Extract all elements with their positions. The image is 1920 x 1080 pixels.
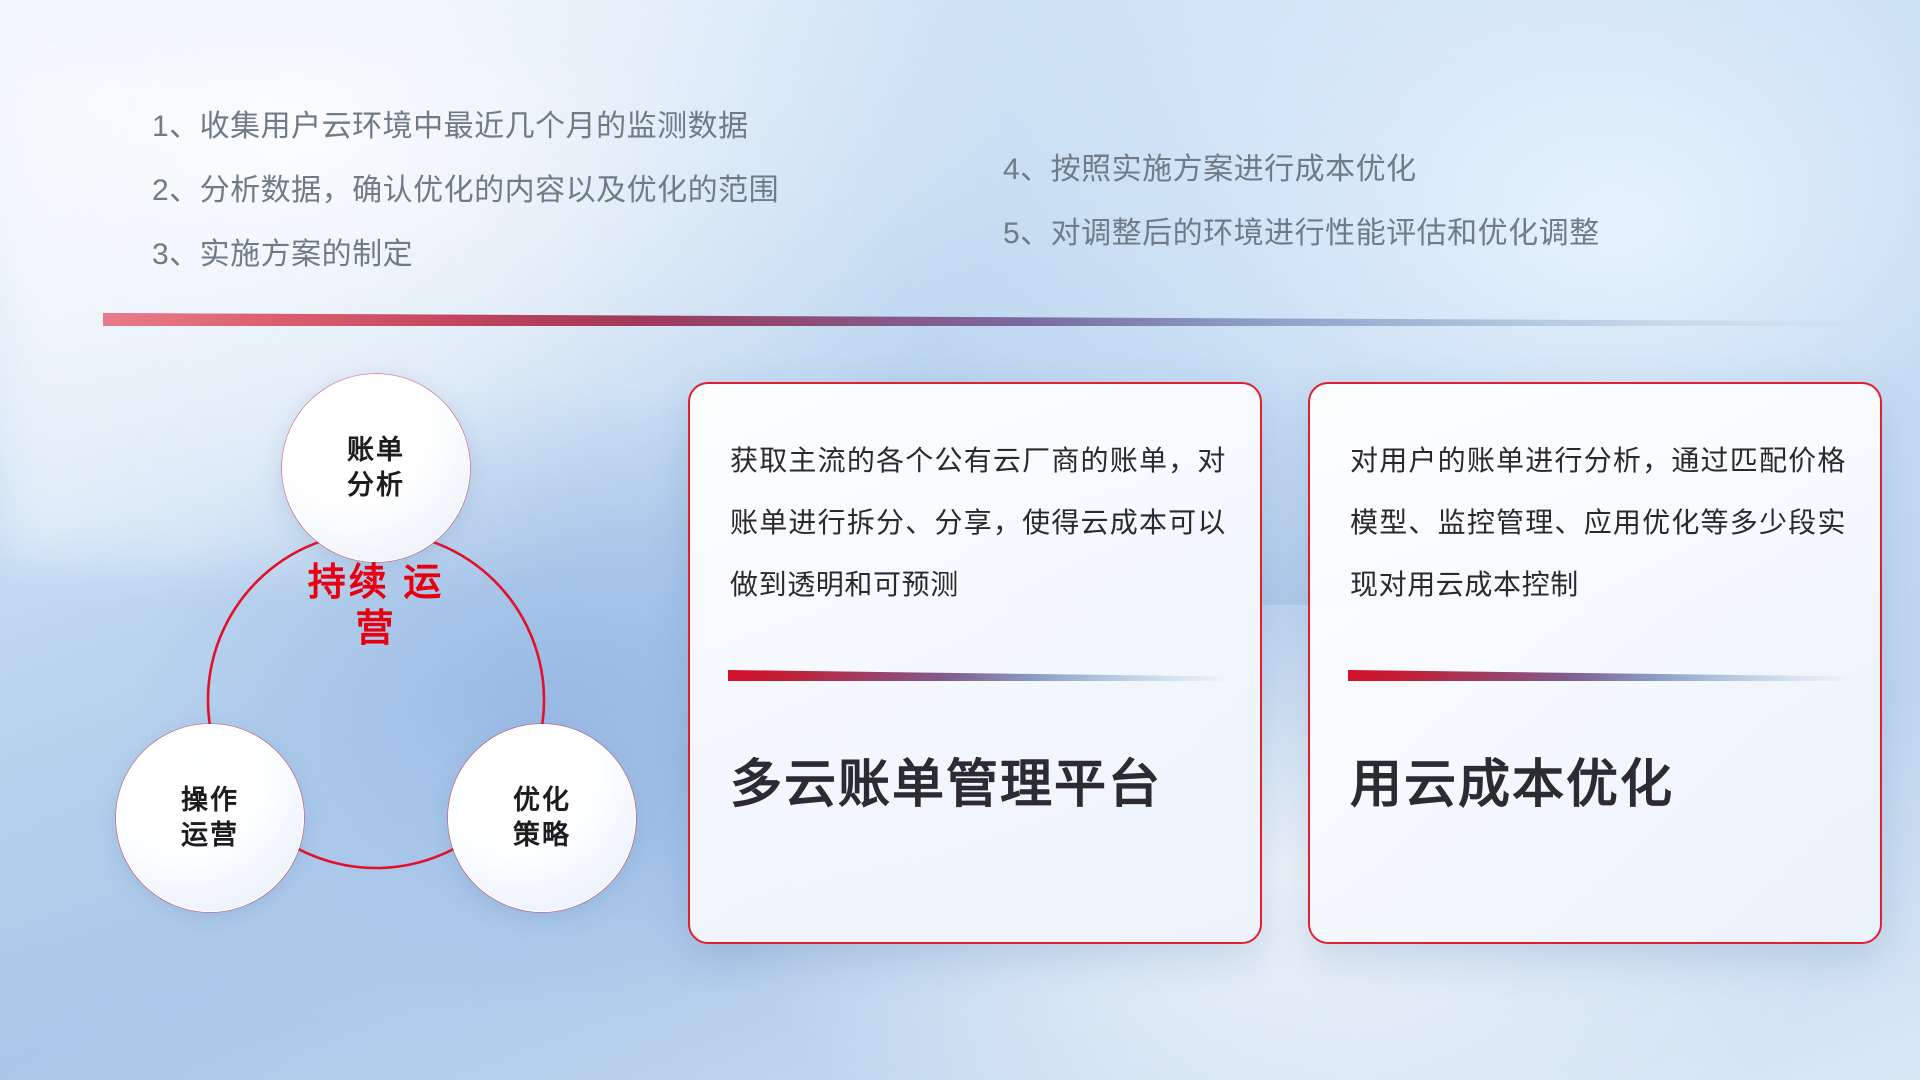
feature-card-multi-cloud-billing-platform[interactable]: 获取主流的各个公有云厂商的账单，对账单进行拆分、分享，使得云成本可以做到透明和可… bbox=[688, 382, 1262, 944]
card-divider-wedge bbox=[1348, 670, 1846, 681]
list-item: 1、收集用户云环境中最近几个月的监测数据 bbox=[152, 112, 779, 142]
card-divider bbox=[728, 670, 1226, 681]
list-item: 5、对调整后的环境进行性能评估和优化调整 bbox=[1003, 219, 1600, 249]
bubble-label-line-1: 操作 bbox=[181, 783, 239, 818]
card-title: 用云成本优化 bbox=[1350, 754, 1850, 816]
list-item: 3、实施方案的制定 bbox=[152, 240, 779, 270]
bubble-label-line-2: 策略 bbox=[513, 818, 571, 853]
list-item: 2、分析数据，确认优化的内容以及优化的范围 bbox=[152, 176, 779, 206]
diagram-bubble-operations[interactable]: 操作 运营 bbox=[116, 724, 304, 912]
card-title: 多云账单管理平台 bbox=[730, 754, 1230, 816]
list-item: 4、按照实施方案进行成本优化 bbox=[1003, 155, 1600, 185]
section-divider bbox=[103, 313, 1883, 326]
diagram-bubble-optimization[interactable]: 优化 策略 bbox=[448, 724, 636, 912]
card-divider bbox=[1348, 670, 1846, 681]
diagram-bubble-bill-analysis[interactable]: 账单 分析 bbox=[282, 374, 470, 562]
card-body-text: 获取主流的各个公有云厂商的账单，对账单进行拆分、分享，使得云成本可以做到透明和可… bbox=[730, 430, 1226, 616]
bubble-label-line-2: 运营 bbox=[181, 818, 239, 853]
bubble-label-line-2: 分析 bbox=[347, 468, 405, 503]
card-divider-wedge bbox=[728, 670, 1226, 681]
bubble-label-line-1: 优化 bbox=[513, 783, 571, 818]
continuous-operations-diagram: 持续 运营 账单 分析 操作 运营 优化 策略 bbox=[96, 352, 656, 952]
process-step-list-left-column: 1、收集用户云环境中最近几个月的监测数据 2、分析数据，确认优化的内容以及优化的… bbox=[152, 112, 779, 304]
process-step-list-right-column: 4、按照实施方案进行成本优化 5、对调整后的环境进行性能评估和优化调整 bbox=[1003, 155, 1600, 283]
bubble-label-line-1: 账单 bbox=[347, 433, 405, 468]
diagram-center-label: 持续 运营 bbox=[298, 560, 454, 653]
card-body-text: 对用户的账单进行分析，通过匹配价格模型、监控管理、应用优化等多少段实现对用云成本… bbox=[1350, 430, 1846, 616]
divider-highlight bbox=[103, 313, 1883, 326]
feature-card-cloud-cost-optimization[interactable]: 对用户的账单进行分析，通过匹配价格模型、监控管理、应用优化等多少段实现对用云成本… bbox=[1308, 382, 1882, 944]
process-step-list: 1、收集用户云环境中最近几个月的监测数据 2、分析数据，确认优化的内容以及优化的… bbox=[0, 0, 1920, 300]
center-label-line-1: 持续 bbox=[308, 562, 390, 604]
